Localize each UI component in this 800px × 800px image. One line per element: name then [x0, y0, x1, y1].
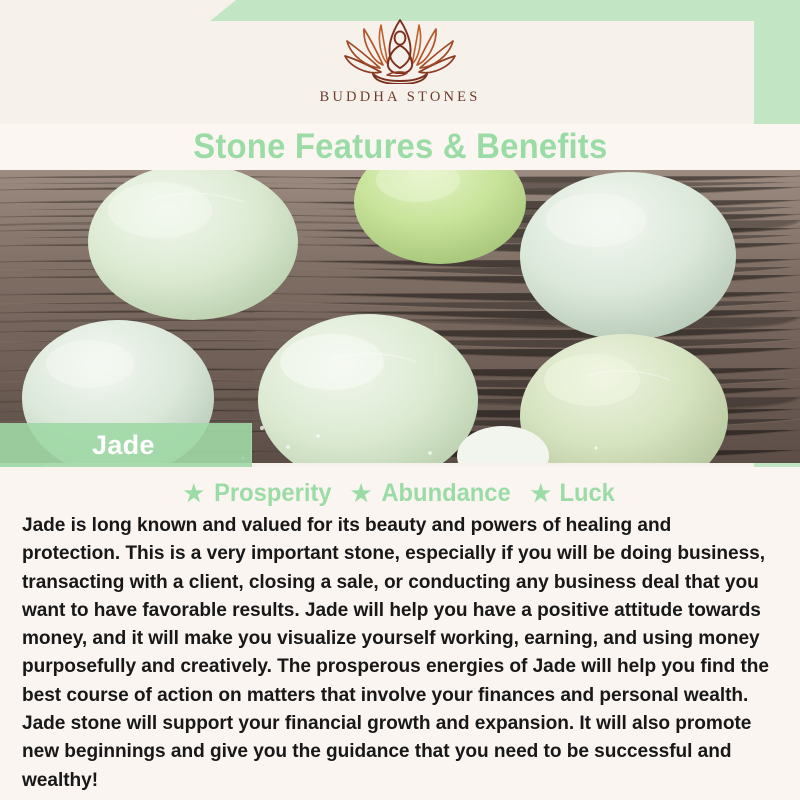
brand-logo: BUDDHA STONES: [0, 18, 800, 106]
benefit-label: Prosperity: [214, 479, 331, 508]
brand-wordmark: BUDDHA STONES: [320, 89, 481, 106]
hero-stone-photo: [0, 170, 800, 463]
star-icon: ★: [183, 482, 204, 505]
page-title-bar: Stone Features & Benefits: [0, 124, 800, 170]
description-text: Jade is long known and valued for its be…: [22, 511, 771, 794]
description-section: ★ Prosperity ★ Abundance ★ Luck Jade is …: [0, 467, 800, 800]
benefit-label: Abundance: [382, 479, 511, 508]
stone-info-poster: BUDDHA STONES Stone Features & Benefits: [0, 0, 800, 800]
page-title: Stone Features & Benefits: [193, 127, 607, 167]
benefit-item: ★ Luck: [531, 479, 617, 508]
stone-name-badge: Jade: [0, 423, 252, 467]
star-icon: ★: [351, 482, 372, 505]
benefit-label: Luck: [560, 479, 615, 508]
benefit-item: ★ Prosperity: [183, 479, 334, 508]
benefit-item: ★ Abundance: [351, 479, 515, 508]
lotus-meditation-icon: [325, 18, 475, 84]
star-icon: ★: [531, 482, 552, 505]
benefits-row: ★ Prosperity ★ Abundance ★ Luck: [22, 479, 778, 508]
stone-name-label: Jade: [92, 430, 155, 461]
